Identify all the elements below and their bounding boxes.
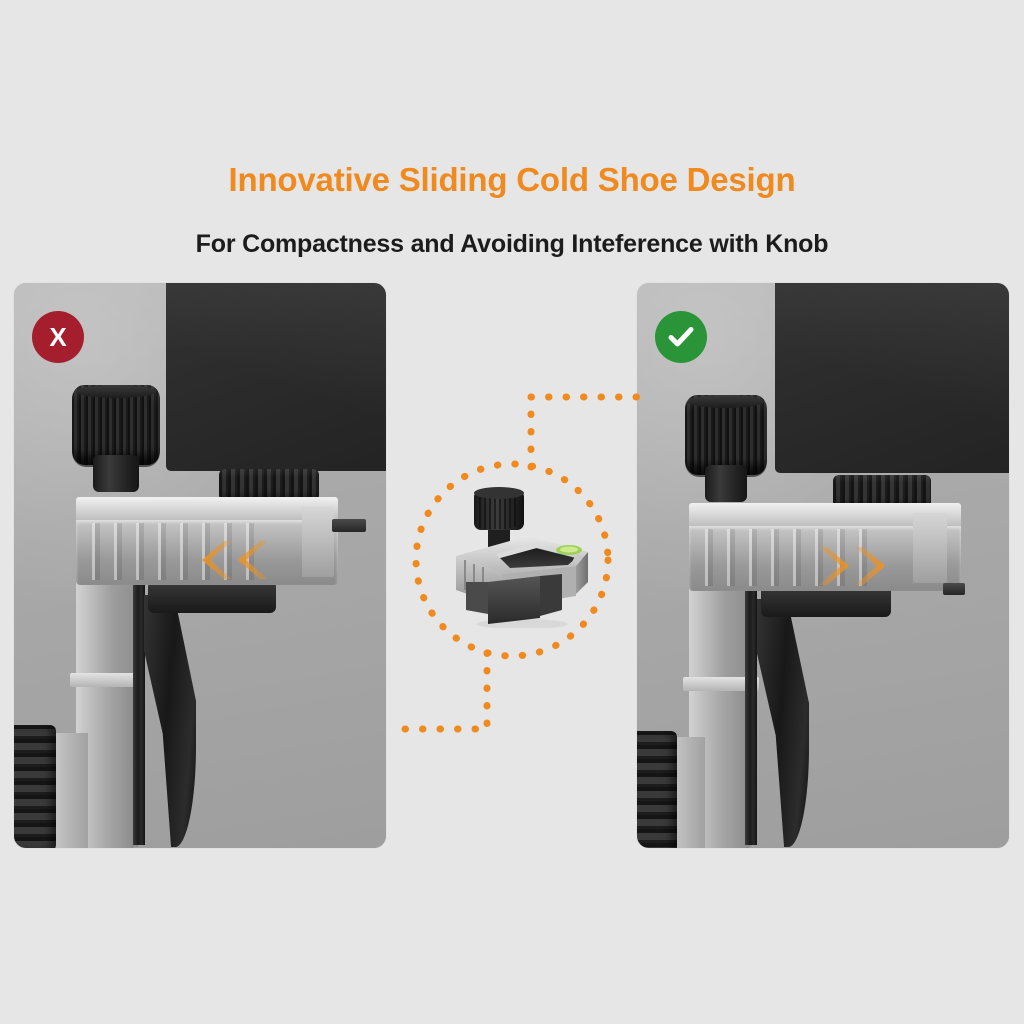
tripod-leg-thin xyxy=(133,583,145,845)
page-title: Innovative Sliding Cold Shoe Design xyxy=(0,160,1024,200)
comparison-panel-right xyxy=(637,283,1009,848)
plate-side-tab xyxy=(913,513,947,583)
chevron-left-icon xyxy=(202,539,236,581)
status-badge-check xyxy=(655,311,707,363)
base-knob xyxy=(637,731,677,848)
direction-arrows-right xyxy=(815,545,885,587)
comparison-panel-left: X xyxy=(14,283,386,848)
base-knob xyxy=(14,725,56,848)
tripod-column-lower xyxy=(82,679,134,848)
base-block xyxy=(673,737,705,848)
chevron-left-icon xyxy=(238,539,272,581)
monitor-screen xyxy=(166,283,386,471)
tilt-knob xyxy=(685,395,767,475)
callout-connector-bottom xyxy=(388,653,487,729)
plate-side-tab xyxy=(302,507,334,577)
monitor-screen xyxy=(775,283,1009,473)
status-badge-cross: X xyxy=(32,311,84,363)
base-block xyxy=(54,733,88,848)
plate-pin xyxy=(943,583,965,595)
chevron-right-icon xyxy=(815,545,849,587)
chevron-right-icon xyxy=(851,545,885,587)
tilt-knob xyxy=(72,385,160,465)
page-subtitle: For Compactness and Avoiding Inteference… xyxy=(0,228,1024,260)
direction-arrows-left xyxy=(202,539,272,581)
check-icon xyxy=(666,322,696,352)
tripod-leg-thin xyxy=(745,587,757,845)
cross-icon: X xyxy=(49,324,66,350)
tripod-leg-arm xyxy=(148,581,276,613)
callout-connector-top xyxy=(531,397,640,467)
plate-pin xyxy=(332,519,366,532)
cold-shoe-detail-illustration xyxy=(436,478,594,628)
